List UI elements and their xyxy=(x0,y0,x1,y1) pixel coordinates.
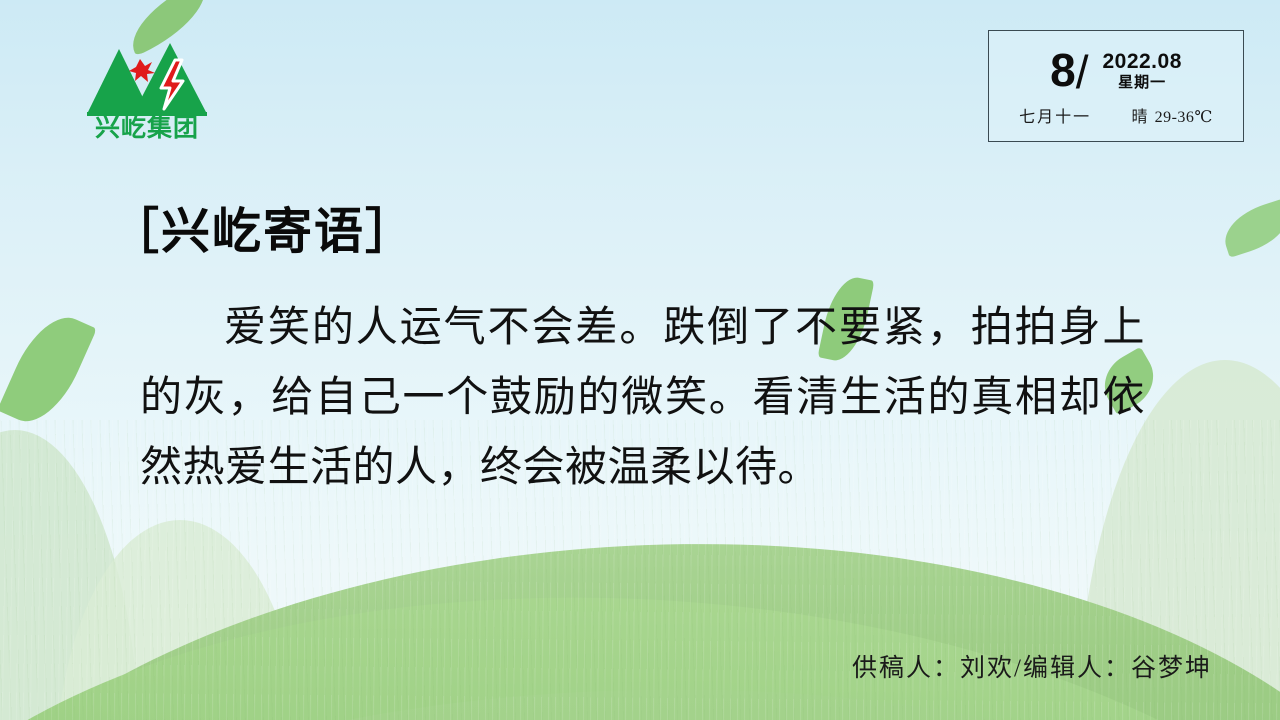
temperature-range: 29-36℃ xyxy=(1155,109,1213,126)
day-slash: / xyxy=(1076,51,1089,95)
weekday: 星期一 xyxy=(1102,74,1181,92)
date-card-top-row: 8 / 2022.08 星期一 xyxy=(989,31,1243,93)
company-logo: 兴屹集团 xyxy=(78,28,216,140)
credits-line: 供稿人：刘欢/编辑人：谷梦坤 xyxy=(0,648,1212,684)
logo-wordmark: 兴屹集团 xyxy=(95,113,199,140)
page-title: ［兴屹寄语］ xyxy=(110,192,416,263)
year-month: 2022.08 xyxy=(1102,50,1181,74)
date-card-bottom-row: 七月十一 晴29-36℃ xyxy=(989,93,1243,137)
lunar-date: 七月十一 xyxy=(1019,103,1091,127)
daily-quote-poster: 兴屹集团 8 / 2022.08 星期一 七月十一 晴29-36℃ ［兴屹寄语］… xyxy=(0,0,1280,720)
day-number: 8 xyxy=(1050,49,1075,93)
quote-body: 爱笑的人运气不会差。跌倒了不要紧，拍拍身上的灰，给自己一个鼓励的微笑。看清生活的… xyxy=(140,292,1145,502)
date-weather-card: 8 / 2022.08 星期一 七月十一 晴29-36℃ xyxy=(988,30,1244,142)
weather-info: 晴29-36℃ xyxy=(1132,103,1213,127)
weather-condition: 晴 xyxy=(1132,109,1149,126)
year-month-block: 2022.08 星期一 xyxy=(1102,50,1181,92)
